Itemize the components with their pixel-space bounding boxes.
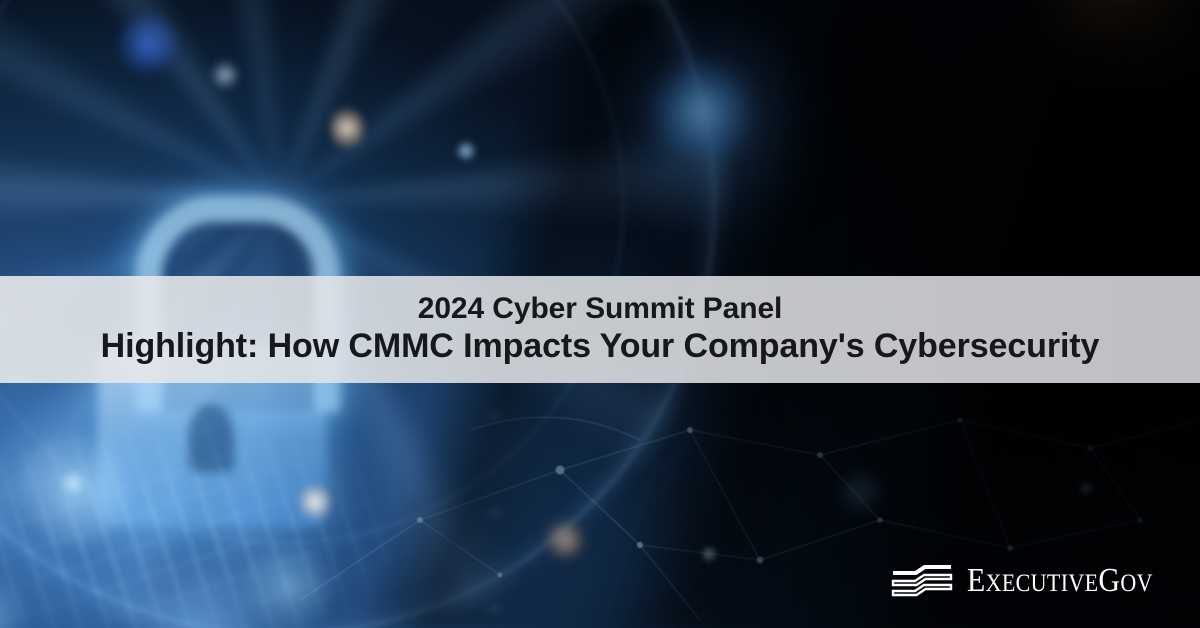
executivegov-logo[interactable]: EXECUTIVEGOV [891,562,1178,600]
title-overlay-band: 2024 Cyber Summit Panel Highlight: How C… [0,276,1200,383]
title-line-1: 2024 Cyber Summit Panel [418,291,783,326]
executivegov-wordmark: EXECUTIVEGOV [967,564,1153,598]
stepped-waves-icon [891,562,953,600]
social-card-banner: 2024 Cyber Summit Panel Highlight: How C… [0,0,1200,628]
title-line-2: Highlight: How CMMC Impacts Your Company… [101,326,1100,367]
